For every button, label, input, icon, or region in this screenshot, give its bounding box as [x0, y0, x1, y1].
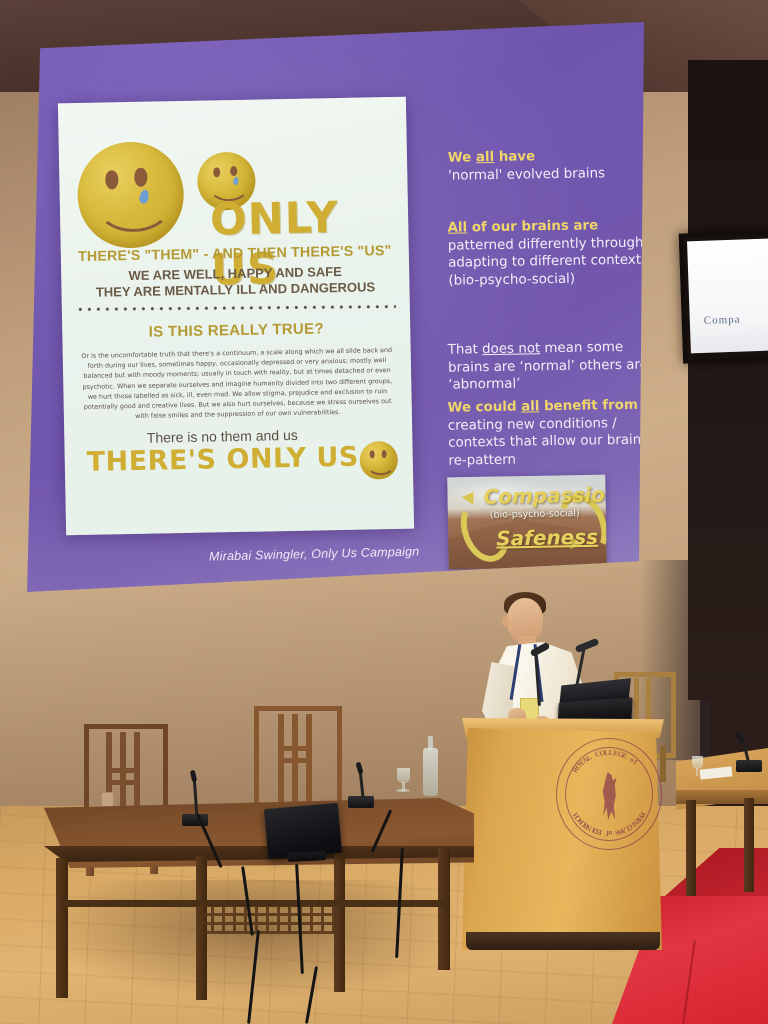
poster-question: IS THIS REALLY TRUE?	[70, 319, 402, 342]
front-table-leg-right	[438, 848, 450, 970]
table-monitor	[264, 803, 342, 859]
wall-power-socket	[101, 792, 114, 808]
side-table-leg	[686, 800, 696, 896]
side-monitor-screen: Compa	[687, 239, 768, 354]
side-table-leg-2	[744, 798, 754, 892]
wine-glass	[397, 768, 410, 783]
wine-glass-foot	[396, 789, 410, 792]
wine-glass-side-stem	[696, 768, 698, 776]
royal-college-crest-icon: ROYAL COLLEGE of PHYSICIANS of EDINBURGH	[556, 738, 662, 850]
slide-bullet-4-heading: We could all benefit from	[447, 396, 667, 417]
front-table-lattice	[200, 906, 340, 934]
front-table-leg-left	[56, 858, 68, 998]
projection-screen: ONLY US THERE'S "THEM" - AND THEN THERE'…	[24, 22, 644, 592]
slide-bullet-3: That does not mean some brains are ‘norm…	[448, 338, 667, 394]
poster-dotted-divider	[76, 305, 396, 312]
smiley-face-large-icon	[77, 141, 185, 249]
right-dark-panel	[688, 60, 768, 700]
lectern-base	[466, 932, 660, 950]
side-monitor: Compa	[679, 230, 768, 363]
speaker-ear	[502, 616, 509, 627]
slide-bullet-4-body: creating new conditions / contexts that …	[448, 414, 669, 470]
slide-bullet-1-body: 'normal' evolved brains	[448, 164, 663, 185]
water-bottle	[423, 748, 438, 796]
side-monitor-text: Compa	[704, 314, 741, 327]
lecture-hall-photo: ONLY US THERE'S "THEM" - AND THEN THERE'…	[0, 0, 768, 1024]
slide-bullet-2: All of our brains are patterned differen…	[447, 216, 666, 289]
slide-bullet-2-body: patterned differently through adapting t…	[448, 234, 667, 290]
only-us-poster: ONLY US THERE'S "THEM" - AND THEN THERE'…	[58, 97, 414, 536]
slide-bullet-4: We could all benefit from creating new c…	[447, 396, 668, 469]
slide-bullet-3-body: That does not mean some brains are ‘norm…	[448, 338, 667, 394]
slide-bullet-1: We all have 'normal' evolved brains	[448, 146, 664, 184]
poster-body-text: Or is the uncomfortable truth that there…	[81, 345, 394, 422]
